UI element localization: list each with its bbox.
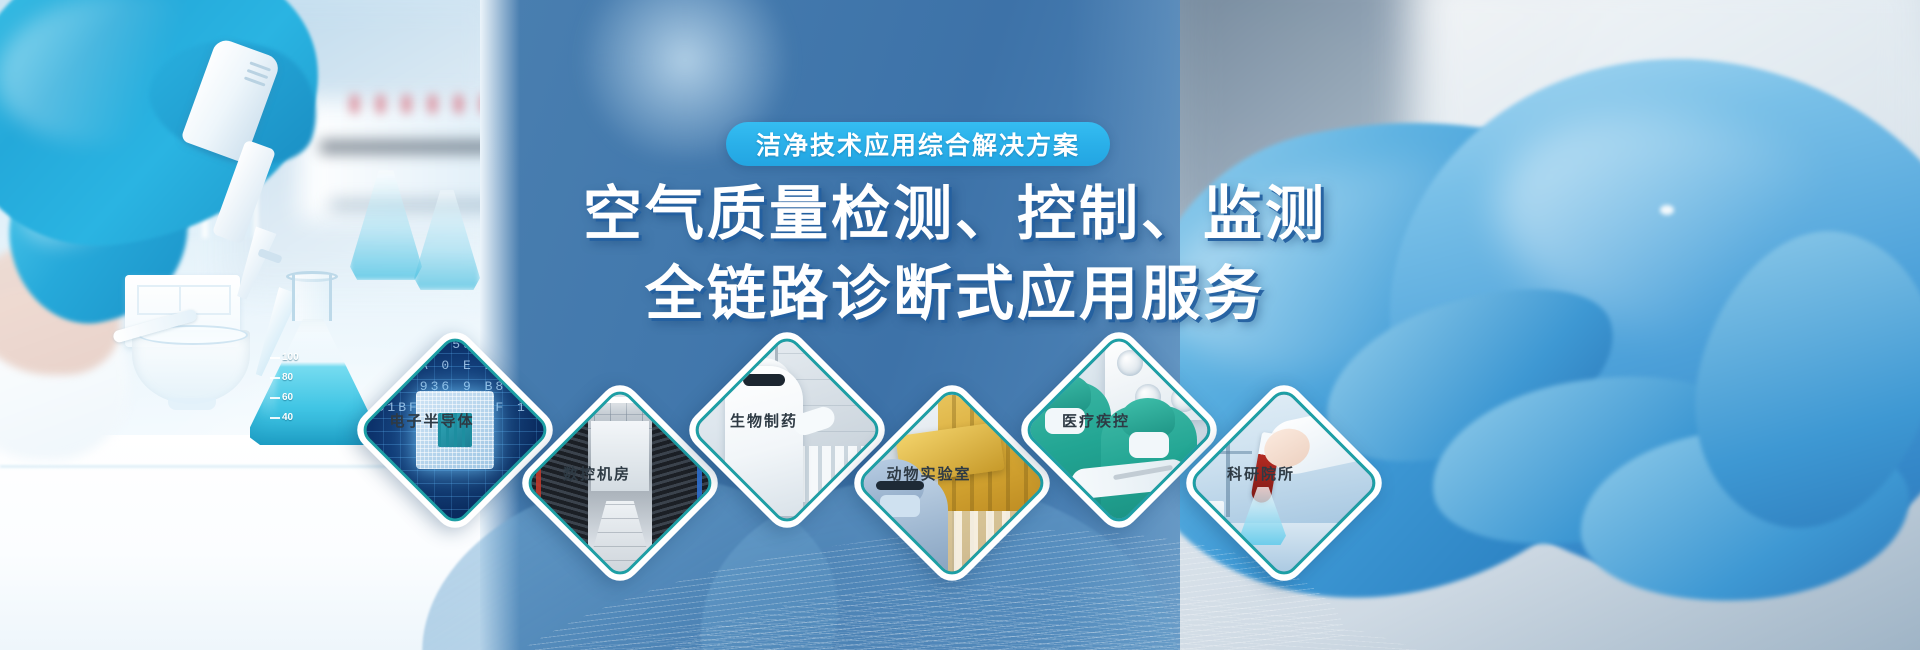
tile-label-medical-disease-control: 医疗疾控 bbox=[1021, 410, 1171, 431]
tile-label-electronics-semiconductor: 电子半导体 bbox=[357, 410, 507, 431]
tile-label-biopharmaceutical: 生物制药 bbox=[689, 410, 839, 431]
hero-banner: 100 80 60 40 洁净技术应用综合解决方案 bbox=[0, 0, 1920, 650]
industry-tiles: E2 F D A 5926 7 8 1 E2C A 0 E BF3 82693 … bbox=[0, 0, 1920, 650]
tile-label-data-control-room: 数控机房 bbox=[522, 463, 672, 484]
tile-label-animal-laboratory: 动物实验室 bbox=[854, 463, 1004, 484]
tile-label-research-institute: 科研院所 bbox=[1186, 463, 1336, 484]
